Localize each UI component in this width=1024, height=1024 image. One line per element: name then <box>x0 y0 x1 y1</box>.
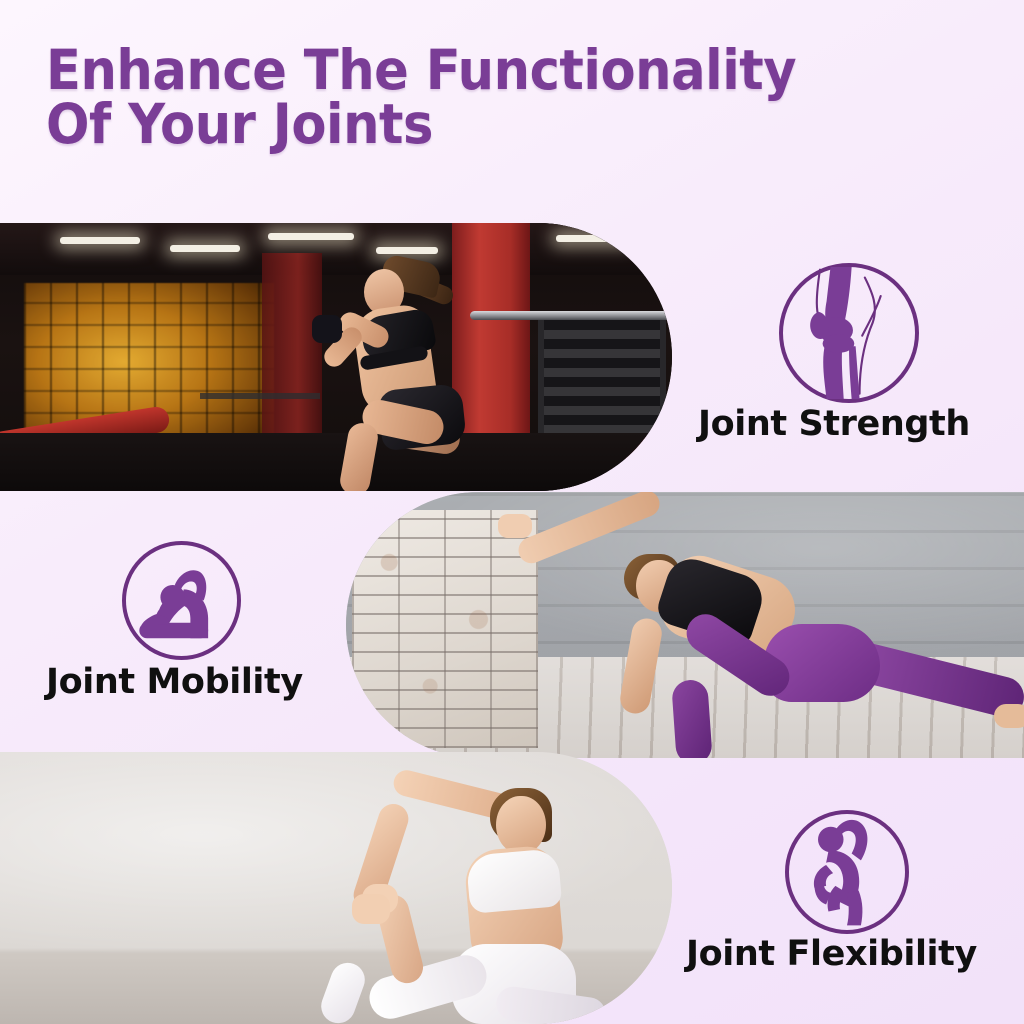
feature-label-joint-flexibility: Joint Flexibility <box>686 934 977 974</box>
standing-stretch-icon <box>785 810 909 934</box>
infographic-canvas: Enhance The Functionality Of Your Joints <box>0 0 1024 1024</box>
knee-joint-icon <box>779 263 919 403</box>
woman-squatting-in-gym-photo <box>0 223 672 491</box>
photo-panel-joint-flexibility <box>0 752 672 1024</box>
dancer-figure <box>300 766 672 1024</box>
athlete-figure <box>296 255 516 491</box>
photo-panel-joint-mobility <box>346 492 1024 758</box>
woman-kneeling-quad-stretch-photo <box>0 752 672 1024</box>
seated-stretch-icon <box>122 541 241 660</box>
page-title: Enhance The Functionality Of Your Joints <box>46 44 930 152</box>
yogi-figure <box>496 508 1016 758</box>
photo-panel-joint-strength <box>0 223 672 491</box>
feature-label-joint-strength: Joint Strength <box>698 404 970 444</box>
feature-label-joint-mobility: Joint Mobility <box>46 662 303 702</box>
woman-side-plank-photo <box>346 492 1024 758</box>
